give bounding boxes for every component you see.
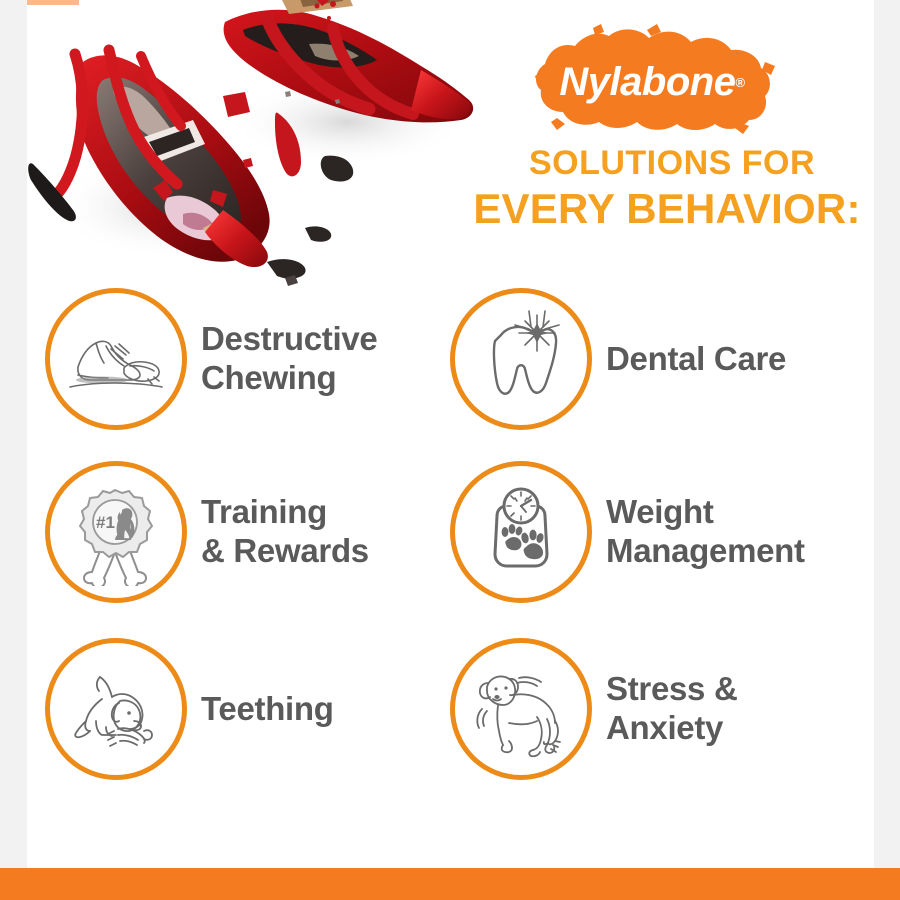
benefit-training-rewards[interactable]: #1 Training & Rewards [45, 461, 369, 603]
logo-wordmark: Nylabone® [527, 22, 777, 142]
benefit-dental-care[interactable]: Dental Care [450, 288, 786, 430]
benefit-weight-management[interactable]: Weight Management [450, 461, 805, 603]
benefit-label: Training & Rewards [201, 493, 369, 571]
footer-orange-bar [0, 868, 900, 900]
anxious-dog-icon [450, 638, 592, 780]
sparkling-tooth-icon [450, 288, 592, 430]
headline-line-2: EVERY BEHAVIOR: [427, 188, 874, 230]
paw-scale-icon [450, 461, 592, 603]
nylabone-logo: Nylabone® [527, 22, 777, 142]
rosette-badge-text: #1 [96, 513, 115, 532]
registered-trademark-icon: ® [735, 75, 744, 90]
benefit-destructive-chewing[interactable]: Destructive Chewing [45, 288, 377, 430]
top-orange-sliver [27, 0, 79, 5]
benefit-label: Weight Management [606, 493, 805, 571]
headline-line-1: SOLUTIONS FOR [447, 146, 874, 180]
benefit-label: Dental Care [606, 340, 786, 379]
poster-canvas: Nylabone® SOLUTIONS FOR EVERY BEHAVIOR: [27, 0, 874, 868]
benefit-label: Destructive Chewing [201, 320, 377, 398]
logo-text: Nylabone [559, 60, 735, 105]
chewed-red-high-heels-photo [27, 0, 487, 302]
poster-page: Nylabone® SOLUTIONS FOR EVERY BEHAVIOR: [0, 0, 900, 900]
benefit-label: Stress & Anxiety [606, 670, 738, 748]
chewed-shoe-icon [45, 288, 187, 430]
benefit-label: Teething [201, 690, 334, 729]
award-rosette-dog-icon: #1 [45, 461, 187, 603]
benefits-grid: Destructive Chewing [27, 288, 874, 818]
benefit-stress-anxiety[interactable]: Stress & Anxiety [450, 638, 738, 780]
puppy-chewing-toy-icon [45, 638, 187, 780]
benefit-teething[interactable]: Teething [45, 638, 334, 780]
